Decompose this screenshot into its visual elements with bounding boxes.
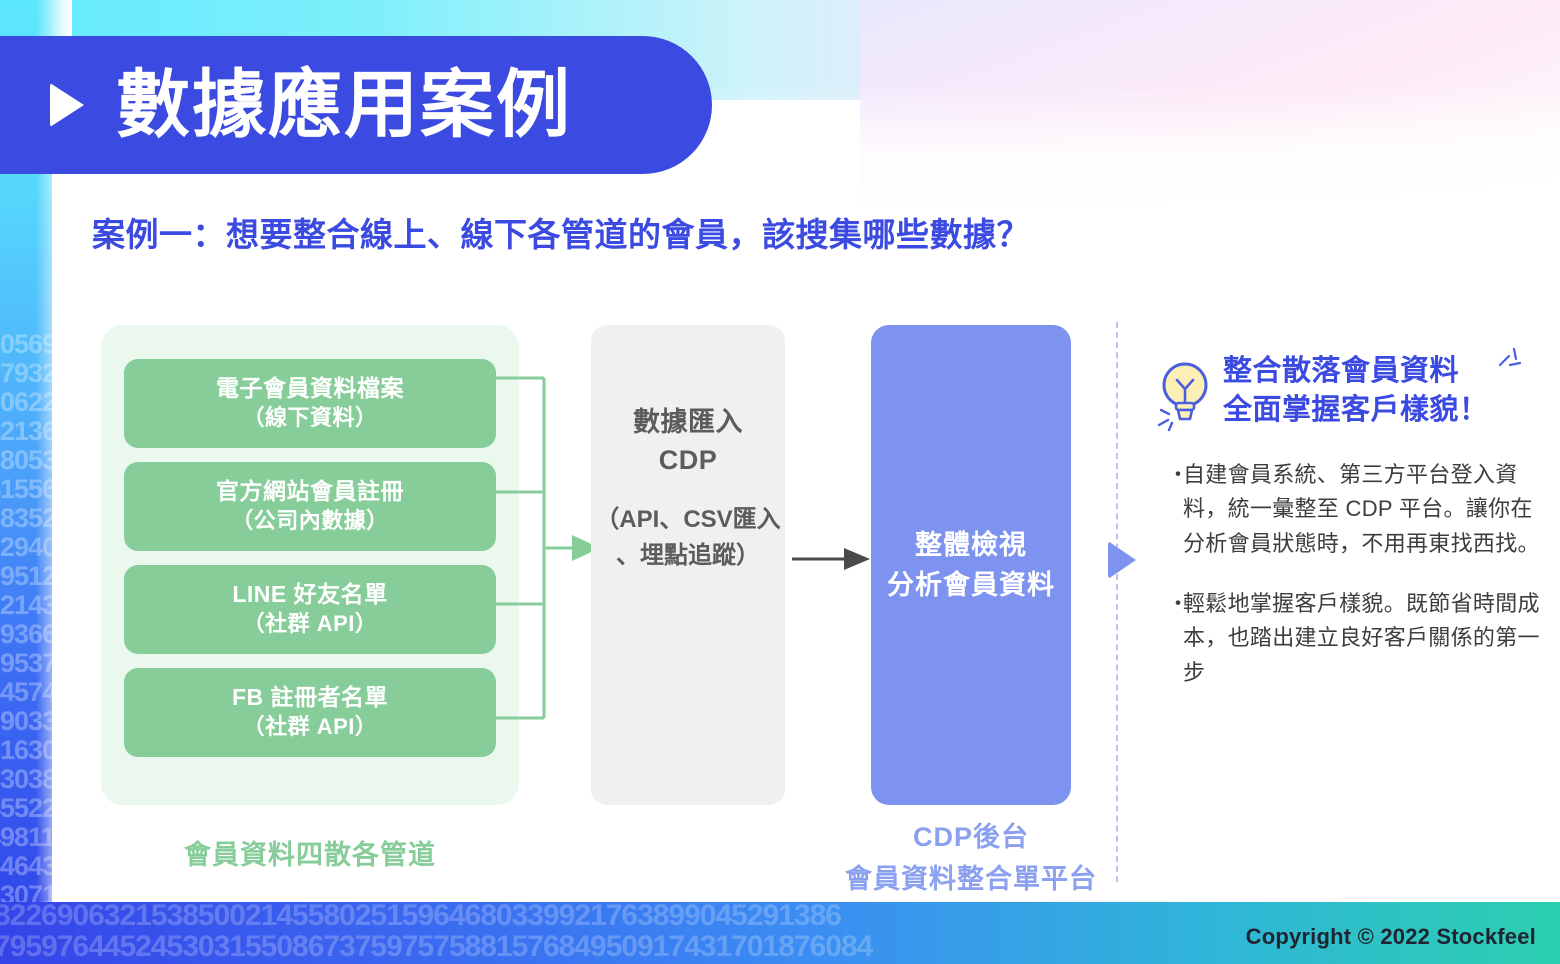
import-title-line1: 數據匯入 (633, 403, 743, 441)
analysis-caption: CDP後台 會員資料整合單平台 (821, 817, 1121, 901)
result-bullet: ・ 輕鬆地掌握客戶樣貌。既節省時間成本，也踏出建立良好客戶關係的第一步 (1183, 587, 1540, 690)
source-box-line1: FB 註冊者名單 (232, 683, 388, 713)
result-triangle-icon (1108, 541, 1136, 579)
bullet-text: 輕鬆地掌握客戶樣貌。既節省時間成本，也踏出建立良好客戶關係的第一步 (1183, 591, 1540, 685)
import-title-line2: CDP (633, 441, 743, 479)
play-triangle-icon (50, 83, 84, 127)
bullet-text: 自建會員系統、第三方平台登入資料，統一彙整至 CDP 平台。讓你在分析會員狀態時… (1183, 462, 1540, 556)
data-sources-caption: 會員資料四散各管道 (101, 833, 519, 872)
page-title: 數據應用案例 (116, 68, 572, 142)
source-box-line2: （社群 API） (243, 610, 378, 639)
source-box[interactable]: LINE 好友名單 （社群 API） (124, 565, 496, 654)
dashed-divider (1116, 322, 1118, 882)
bullet-marker: ・ (1167, 587, 1189, 621)
result-header: 整合散落會員資料 全面掌握客戶樣貌！ (1155, 352, 1540, 432)
source-box-line2: （公司內數據） (231, 507, 389, 536)
result-title-line2: 全面掌握客戶樣貌！ (1223, 391, 1489, 430)
source-box[interactable]: FB 註冊者名單 （社群 API） (124, 668, 496, 757)
analysis-caption-line2: 會員資料整合單平台 (821, 859, 1121, 901)
case-subtitle: 案例一：想要整合線上、線下各管道的會員，該搜集哪些數據？ (92, 208, 1030, 256)
result-block: 整合散落會員資料 全面掌握客戶樣貌！ ・ 自建會員系統、第三方平台登入資料，統一… (1155, 352, 1540, 690)
import-detail-line2: 、埋點追蹤） (595, 538, 780, 574)
analysis-caption-line1: CDP後台 (821, 817, 1121, 859)
analysis-box: 整體檢視 分析會員資料 (871, 325, 1071, 805)
analysis-label-line2: 分析會員資料 (887, 565, 1055, 606)
green-bracket-connector (494, 375, 604, 735)
result-bullet: ・ 自建會員系統、第三方平台登入資料，統一彙整至 CDP 平台。讓你在分析會員狀… (1183, 458, 1540, 561)
source-box-line2: （線下資料） (242, 404, 377, 433)
import-to-analysis-arrow (792, 545, 872, 573)
result-title: 整合散落會員資料 全面掌握客戶樣貌！ (1223, 352, 1489, 431)
source-box[interactable]: 官方網站會員註冊 （公司內數據） (124, 462, 496, 551)
result-bullet-list: ・ 自建會員系統、第三方平台登入資料，統一彙整至 CDP 平台。讓你在分析會員狀… (1155, 458, 1540, 690)
source-box-line1: 官方網站會員註冊 (216, 477, 404, 507)
sparkle-icon (1494, 343, 1528, 377)
copyright-text: Copyright © 2022 Stockfeel (1246, 924, 1536, 950)
source-box-line2: （社群 API） (243, 713, 378, 742)
source-box-line1: 電子會員資料檔案 (216, 374, 404, 404)
source-box[interactable]: 電子會員資料檔案 （線下資料） (124, 359, 496, 448)
analysis-label-line1: 整體檢視 (887, 525, 1055, 566)
cdp-import-box: 數據匯入 CDP （API、CSV匯入 、埋點追蹤） (591, 325, 785, 805)
result-title-line1: 整合散落會員資料 (1223, 352, 1489, 391)
bullet-marker: ・ (1167, 458, 1189, 492)
lightbulb-icon (1155, 358, 1211, 432)
source-box-line1: LINE 好友名單 (232, 580, 387, 610)
data-sources-list: 電子會員資料檔案 （線下資料） 官方網站會員註冊 （公司內數據） LINE 好友… (124, 359, 496, 757)
import-detail-line1: （API、CSV匯入 (595, 502, 780, 538)
header-banner: 數據應用案例 (0, 36, 712, 174)
